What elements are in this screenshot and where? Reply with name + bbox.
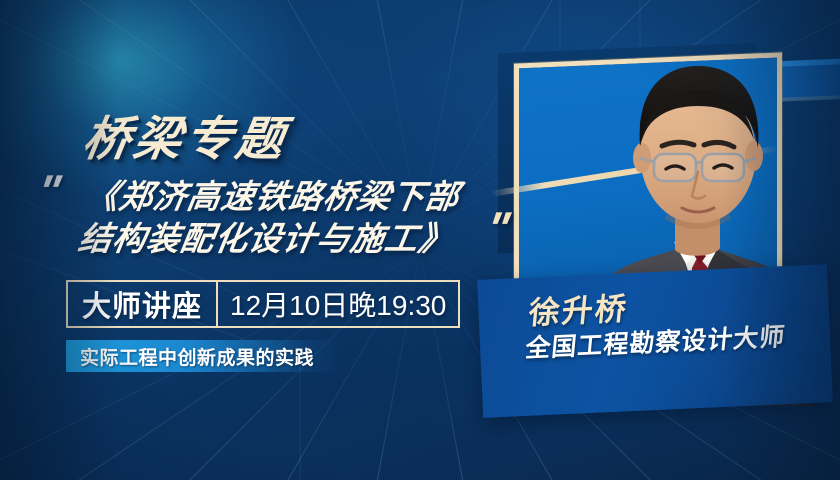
badge-datetime-label: 12月10日晚19:30 xyxy=(218,282,458,326)
quote-close-icon: " xyxy=(483,205,513,251)
lecture-subtitle: 《郑济高速铁路桥梁下部 结构装配化设计与施工》 xyxy=(75,176,488,260)
lecture-subtitle-line1: 《郑济高速铁路桥梁下部 xyxy=(82,176,489,218)
speaker-nameplate: 徐升桥 全国工程勘察设计大师 xyxy=(477,264,833,418)
quote-open-icon: " xyxy=(34,168,64,214)
text-content-zone: 桥梁专题 " 《郑济高速铁路桥梁下部 结构装配化设计与施工》 " 大师讲座 12… xyxy=(0,0,520,480)
badge-category-label: 大师讲座 xyxy=(68,282,216,326)
tagline-bar: 实际工程中创新成果的实践 xyxy=(66,340,338,372)
nameplate-text-group: 徐升桥 全国工程勘察设计大师 xyxy=(524,284,790,364)
speaker-photo-zone: 徐升桥 全国工程勘察设计大师 xyxy=(470,0,840,480)
tagline-text: 实际工程中创新成果的实践 xyxy=(80,343,314,370)
poster-canvas: 徐升桥 全国工程勘察设计大师 桥梁专题 " 《郑济高速铁路桥梁下部 结构装配化设… xyxy=(0,0,840,480)
page-title: 桥梁专题 xyxy=(79,100,294,169)
lecture-badge: 大师讲座 12月10日晚19:30 xyxy=(66,280,460,328)
lecture-subtitle-line2: 结构装配化设计与施工》 xyxy=(75,218,482,260)
